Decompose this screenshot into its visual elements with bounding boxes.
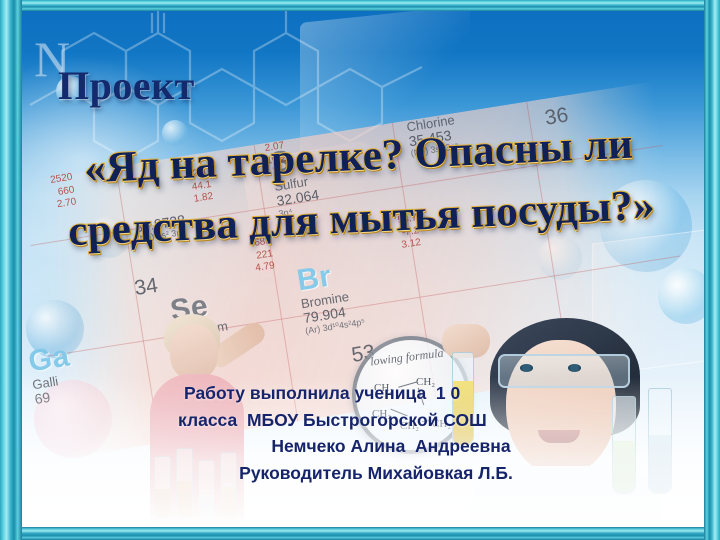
ptable-cell-symbol: Br bbox=[295, 256, 360, 297]
ptable-cell-properties: 907 419.6 7.14 bbox=[0, 362, 16, 408]
slide-border-bottom bbox=[0, 527, 720, 540]
ptable-cell-symbol: Ga bbox=[26, 340, 72, 378]
magnifier-caption: lowing formula bbox=[369, 346, 444, 370]
ptable-cell-number: 31 bbox=[0, 315, 4, 342]
ptable-cell-name: Bromine bbox=[300, 288, 362, 311]
background-test-tube bbox=[648, 388, 672, 494]
ptable-cell-number: 53 bbox=[350, 341, 377, 368]
author-line-2: класса МБОУ Быстрогорской СОШ bbox=[176, 407, 576, 434]
scientist-eye bbox=[568, 364, 581, 372]
ptable-cell-name: Aluminum bbox=[0, 256, 18, 279]
slide-border-right bbox=[704, 0, 720, 540]
child-hair bbox=[164, 314, 220, 358]
beaker bbox=[154, 456, 171, 520]
ptable-cell-mass: 69 bbox=[34, 386, 77, 407]
child-head bbox=[170, 324, 218, 380]
ptable-cell-symbol: Se bbox=[168, 287, 233, 328]
slide-border-left bbox=[0, 0, 22, 540]
background-bubble bbox=[658, 268, 714, 324]
ptable-cell-number: 34 bbox=[133, 274, 160, 301]
background-bubble bbox=[538, 236, 582, 280]
slide-title: «Яд на тарелке? Опасны ли средства для м… bbox=[20, 111, 701, 265]
ptable-cell-config: (Ne) 3s² 3p¹ bbox=[0, 285, 22, 304]
glass-prism-graphic bbox=[592, 229, 714, 376]
ptable-cell-symbol: Al bbox=[0, 224, 16, 265]
author-line-1: Работу выполнила ученица 1 0 bbox=[176, 380, 576, 407]
ptable-cell-mass: 79.904 bbox=[302, 302, 364, 326]
beaker-liquid bbox=[199, 495, 214, 519]
ptable-cell-gallium: Ga Galli 69 bbox=[26, 340, 76, 407]
background-bubble bbox=[34, 380, 112, 458]
ptable-cell-selenium: Se Selenium 78.96 (Ar) 3d¹⁰4s²4p⁴ bbox=[168, 287, 239, 367]
ptable-cell-config: (Ar) 3d¹⁰4s²4p⁴ bbox=[178, 347, 239, 366]
slide-author-block: Работу выполнила ученица 1 0 класса МБОУ… bbox=[176, 380, 576, 486]
slide-kicker-label: Проект bbox=[58, 62, 195, 109]
test-tube-liquid bbox=[649, 435, 671, 493]
ptable-cell-config: 3d¹⁰4s² bbox=[0, 424, 12, 442]
ptable-cell-bromine: Br Bromine 79.904 (Ar) 3d¹⁰4s²4p⁵ bbox=[295, 256, 366, 336]
ptable-cell-aluminum: Al Aluminum 26.9815 (Ne) 3s² 3p¹ bbox=[0, 224, 22, 303]
background-test-tube bbox=[612, 396, 636, 494]
author-line-3: Немчеко Алина Андреевна bbox=[176, 433, 576, 460]
scientist-hand bbox=[442, 324, 490, 358]
child-arm bbox=[205, 319, 269, 372]
scientist-eye bbox=[520, 364, 533, 372]
slide-border-top bbox=[0, 0, 720, 11]
background-bubble bbox=[26, 300, 84, 358]
beaker-liquid bbox=[221, 487, 236, 519]
ptable-cell-name: Galli bbox=[31, 372, 74, 392]
test-tube-liquid bbox=[613, 441, 635, 493]
ptable-grid-line bbox=[48, 255, 680, 356]
ptable-cell-config: (Ar) 3d¹⁰4s²4p⁵ bbox=[305, 317, 366, 336]
beaker-liquid bbox=[177, 481, 192, 519]
presentation-slide: N 280 44.1 1.82 30.9738 (Ne) 3s² 3p³ S bbox=[0, 0, 720, 540]
ptable-cell-mass: 26.9815 bbox=[0, 270, 20, 294]
author-line-4: Руководитель Михайовкая Л.Б. bbox=[176, 460, 576, 487]
beaker-liquid bbox=[155, 489, 170, 519]
ptable-cell-mass: 78.96 bbox=[175, 332, 237, 356]
ptable-cell-name: Selenium bbox=[173, 319, 235, 342]
